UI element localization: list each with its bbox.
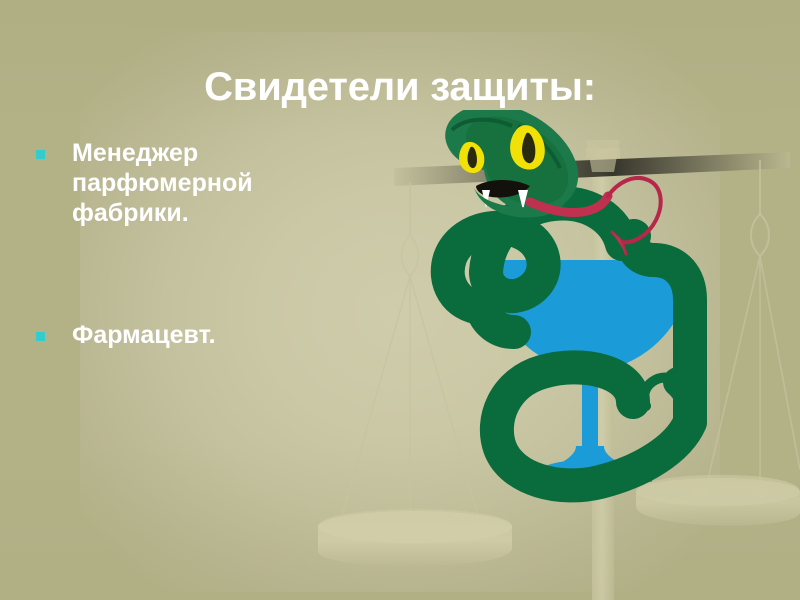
bullet-square-icon <box>36 150 45 159</box>
pharmacy-bowl-of-hygieia-icon <box>390 110 790 510</box>
page-title: Свидетели защиты: <box>60 64 740 110</box>
bullet-square-icon <box>36 332 45 341</box>
list-item: Фармацевт. <box>36 320 396 350</box>
list-item: Менеджер парфюмерной фабрики. <box>36 138 396 228</box>
list-item-label: Фармацевт. <box>72 320 216 350</box>
presentation-slide: Свидетели защиты: Менеджер парфюмерной ф… <box>0 0 800 600</box>
list-item-label: Менеджер парфюмерной фабрики. <box>72 138 372 228</box>
bullet-list: Менеджер парфюмерной фабрики. Фармацевт. <box>36 138 396 350</box>
